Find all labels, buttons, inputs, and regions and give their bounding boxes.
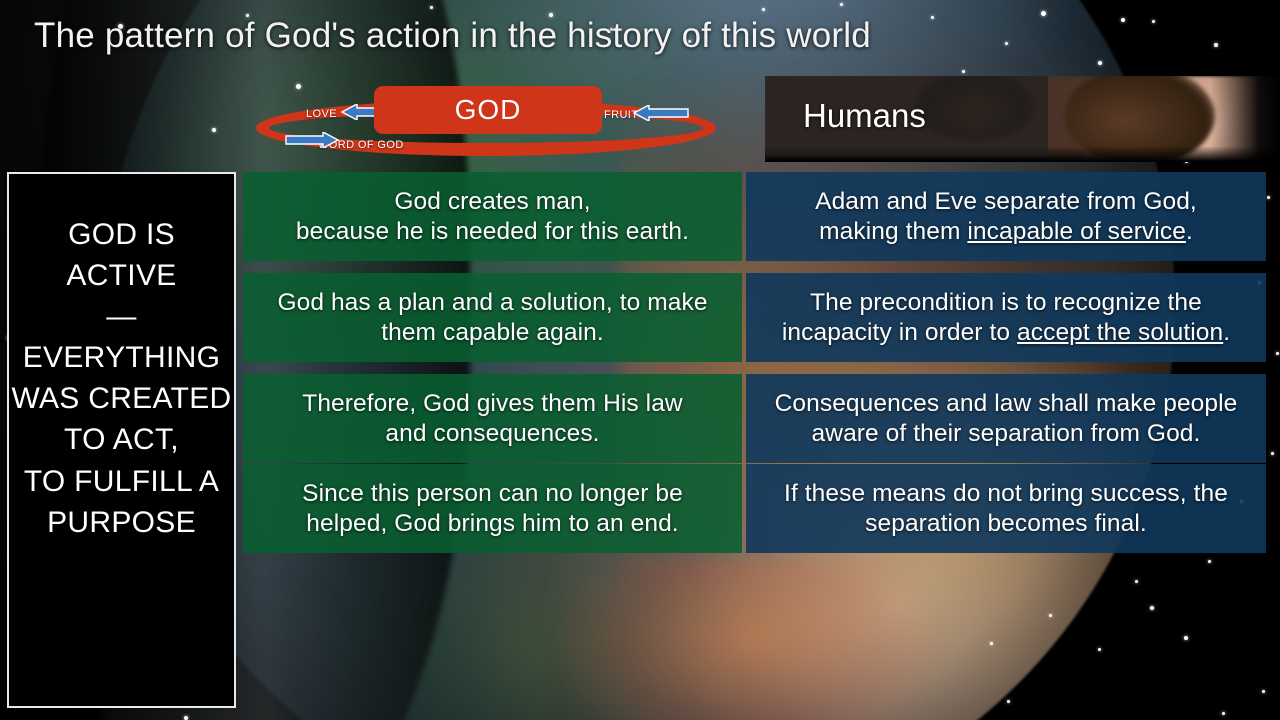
arrow-left-fruit-icon bbox=[632, 105, 690, 121]
atmosphere-glow-lower bbox=[560, 560, 940, 720]
table-row: Since this person can no longer be helpe… bbox=[243, 464, 742, 553]
row-text: Adam and Eve separate from God, making t… bbox=[815, 187, 1197, 245]
row-line-2-tail: . bbox=[1223, 319, 1230, 346]
god-box-label: GOD bbox=[455, 94, 522, 126]
table-row: Adam and Eve separate from God, making t… bbox=[746, 172, 1266, 261]
humans-header-plate: Humans bbox=[765, 76, 1048, 156]
star-icon bbox=[1152, 20, 1155, 23]
table-row: The precondition is to recognize the inc… bbox=[746, 273, 1266, 362]
row-line-1: Consequences and law shall make people bbox=[775, 390, 1238, 417]
row-line-1: Adam and Eve separate from God, bbox=[815, 188, 1197, 215]
row-emphasis: accept the solution bbox=[1017, 319, 1223, 346]
star-icon bbox=[931, 16, 934, 19]
row-line-1: Since this person can no longer be bbox=[302, 480, 683, 507]
star-icon bbox=[1121, 18, 1125, 22]
star-icon bbox=[1005, 42, 1008, 45]
arrow-right-word-of-god-icon bbox=[284, 132, 340, 148]
star-icon bbox=[1208, 560, 1211, 563]
humans-header-label: Humans bbox=[765, 97, 926, 135]
row-text: The precondition is to recognize the inc… bbox=[782, 288, 1230, 346]
row-line-2: aware of their separation from God. bbox=[812, 420, 1201, 447]
table-row: Consequences and law shall make people a… bbox=[746, 374, 1266, 463]
row-line-1: God creates man, bbox=[394, 188, 590, 215]
star-icon bbox=[962, 70, 965, 73]
table-row: If these means do not bring success, the… bbox=[746, 464, 1266, 553]
cycle-label-love: LOVE bbox=[306, 108, 337, 120]
star-icon bbox=[1041, 11, 1046, 16]
row-line-2: incapacity in order to bbox=[782, 319, 1017, 346]
humans-header-photo: Humans bbox=[765, 76, 1280, 162]
row-text: Since this person can no longer be helpe… bbox=[302, 479, 683, 537]
star-icon bbox=[990, 642, 993, 645]
row-text: God creates man, because he is needed fo… bbox=[296, 187, 689, 245]
star-icon bbox=[430, 6, 433, 9]
left-callout-text: GOD IS ACTIVE — EVERYTHING WAS CREATED T… bbox=[12, 214, 232, 543]
row-line-1: If these means do not bring success, the bbox=[784, 480, 1228, 507]
row-line-2: and consequences. bbox=[385, 420, 599, 447]
star-icon bbox=[762, 8, 765, 11]
star-icon bbox=[1098, 61, 1102, 65]
star-icon bbox=[1222, 712, 1225, 715]
row-text: Therefore, God gives them His law and co… bbox=[302, 389, 682, 447]
god-box: GOD bbox=[374, 86, 602, 134]
god-cycle-diagram: LOVE FRUIT WORD OF GOD GOD bbox=[256, 86, 716, 164]
row-line-2: them capable again. bbox=[381, 319, 604, 346]
page-title: The pattern of God's action in the histo… bbox=[34, 16, 871, 56]
row-line-2: because he is needed for this earth. bbox=[296, 218, 689, 245]
star-icon bbox=[1150, 606, 1154, 610]
statement-columns: God creates man, because he is needed fo… bbox=[243, 172, 1266, 553]
row-line-1: The precondition is to recognize the bbox=[810, 289, 1202, 316]
row-line-2: separation becomes final. bbox=[865, 510, 1147, 537]
row-line-2: helped, God brings him to an end. bbox=[306, 510, 678, 537]
table-row: God has a plan and a solution, to make t… bbox=[243, 273, 742, 362]
star-icon bbox=[1214, 43, 1218, 47]
left-callout-panel: GOD IS ACTIVE — EVERYTHING WAS CREATED T… bbox=[7, 172, 236, 708]
star-icon bbox=[1271, 452, 1274, 455]
row-text: If these means do not bring success, the… bbox=[784, 479, 1228, 537]
star-icon bbox=[1135, 580, 1138, 583]
slide-canvas: The pattern of God's action in the histo… bbox=[0, 0, 1280, 720]
column-humans: Adam and Eve separate from God, making t… bbox=[746, 172, 1266, 553]
column-god: God creates man, because he is needed fo… bbox=[243, 172, 742, 553]
star-icon bbox=[1184, 636, 1188, 640]
row-line-2: making them bbox=[819, 218, 967, 245]
row-text: Consequences and law shall make people a… bbox=[775, 389, 1238, 447]
star-icon bbox=[1276, 352, 1279, 355]
table-row: God creates man, because he is needed fo… bbox=[243, 172, 742, 261]
row-line-2-tail: . bbox=[1186, 218, 1193, 245]
row-text: God has a plan and a solution, to make t… bbox=[277, 288, 707, 346]
star-icon bbox=[840, 3, 843, 6]
row-line-1: Therefore, God gives them His law bbox=[302, 390, 682, 417]
star-icon bbox=[1098, 648, 1101, 651]
row-emphasis: incapable of service bbox=[967, 218, 1186, 245]
star-icon bbox=[1262, 690, 1265, 693]
star-icon bbox=[1267, 196, 1270, 199]
star-icon bbox=[1007, 700, 1010, 703]
star-icon bbox=[184, 716, 188, 720]
star-icon bbox=[1049, 614, 1052, 617]
table-row: Therefore, God gives them His law and co… bbox=[243, 374, 742, 463]
row-line-1: God has a plan and a solution, to make bbox=[277, 289, 707, 316]
star-icon bbox=[212, 128, 216, 132]
